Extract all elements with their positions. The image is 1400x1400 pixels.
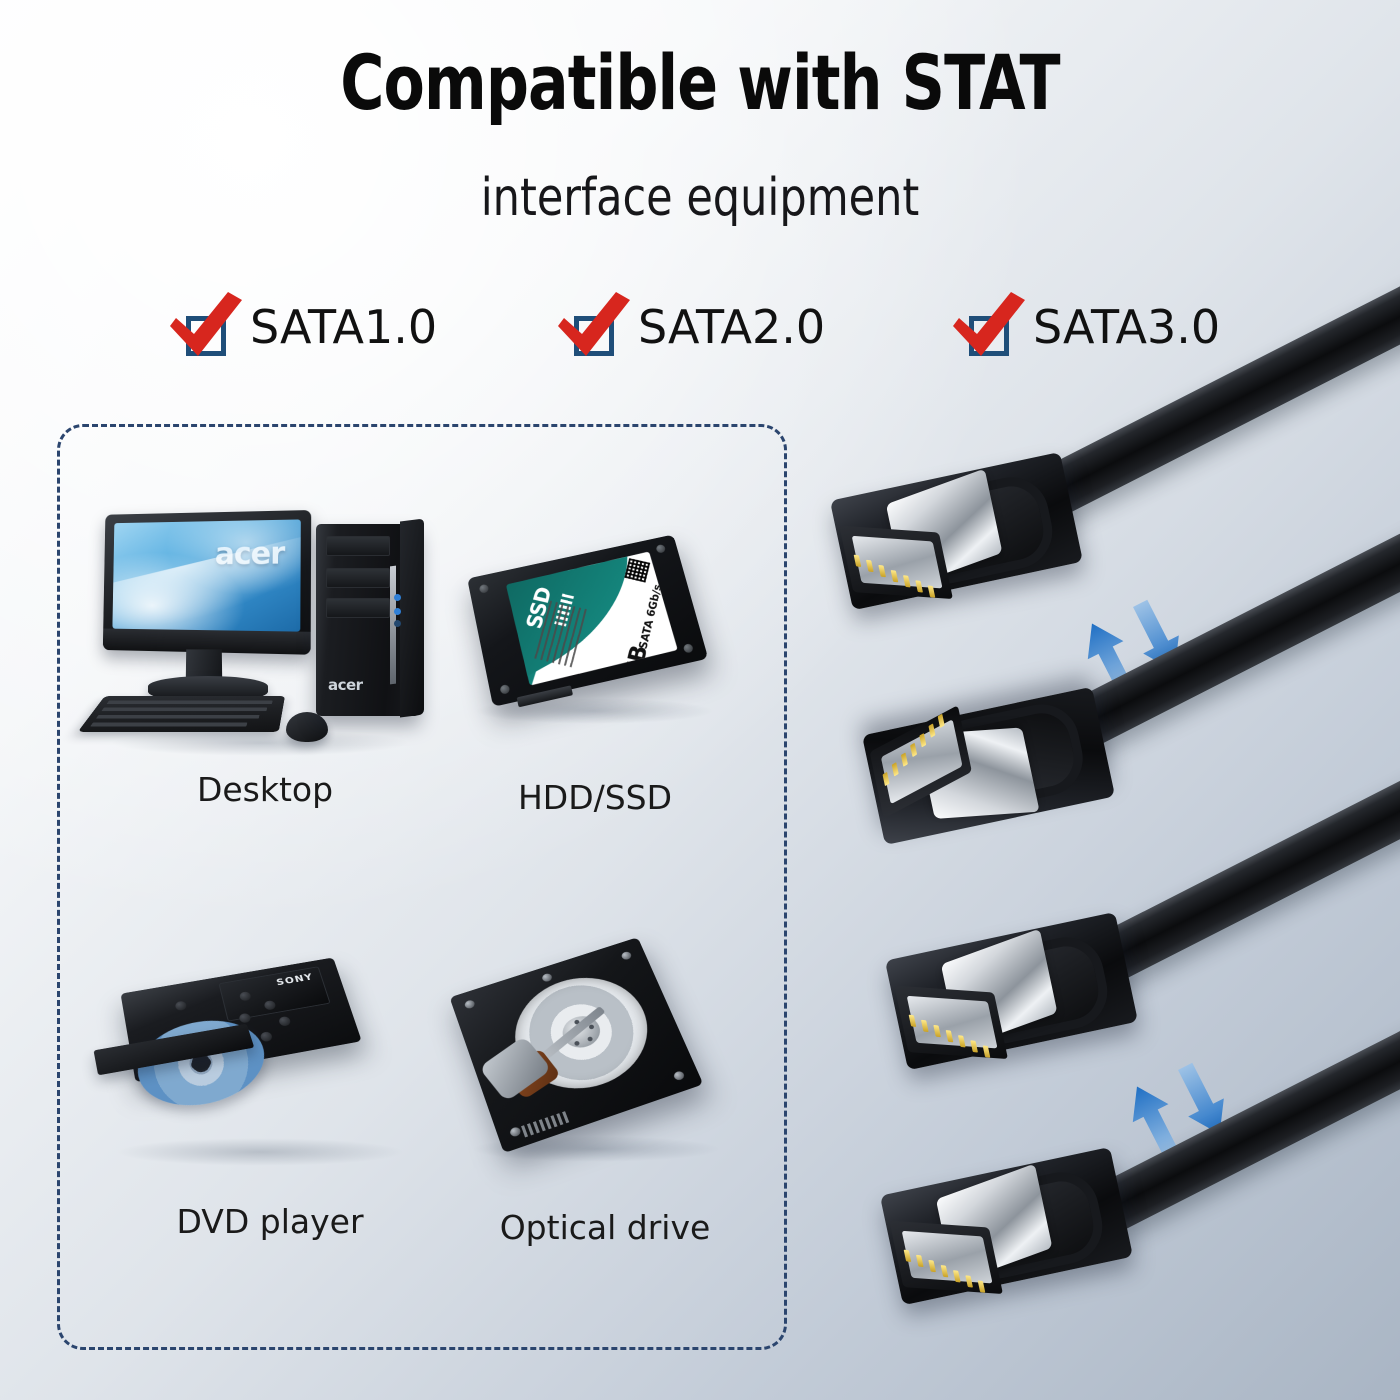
hdd-screw-2 bbox=[620, 951, 632, 961]
solid-state-drive-icon: SSD SATA 6Gb/s 256GB bbox=[460, 520, 730, 750]
ssd-label: SSD SATA 6Gb/s 256GB bbox=[506, 551, 678, 685]
infographic-canvas: Compatible with STAT interface equipment… bbox=[0, 0, 1400, 1400]
hdd-screw-4 bbox=[673, 1070, 686, 1081]
ssd-chassis: SSD SATA 6Gb/s 256GB bbox=[467, 534, 708, 706]
cable-strip bbox=[1018, 245, 1400, 527]
sata-cable-group bbox=[780, 230, 1400, 1400]
device-label-dvd-player: DVD player bbox=[95, 1202, 445, 1241]
tower-acer-logo: acer bbox=[328, 676, 363, 694]
hdd-screw-5 bbox=[541, 972, 553, 982]
device-optical-drive: Optical drive bbox=[455, 940, 755, 1180]
check-mark-icon bbox=[166, 290, 246, 364]
acer-logo: acer bbox=[215, 536, 285, 572]
qr-code-icon bbox=[624, 558, 650, 582]
compat-item-sata1[interactable]: SATA1.0 bbox=[180, 292, 437, 362]
monitor-screen: acer bbox=[112, 519, 300, 631]
straight-latching-connector[interactable] bbox=[885, 912, 1140, 1080]
device-label-desktop: Desktop bbox=[90, 770, 440, 809]
hdd-screw-3 bbox=[509, 1126, 522, 1138]
drive-bay-3 bbox=[326, 598, 390, 618]
tower-accent-strip bbox=[390, 566, 396, 685]
checked-checkbox-icon[interactable] bbox=[180, 304, 232, 356]
hdd-screw-1 bbox=[464, 999, 476, 1010]
desktop-shadow bbox=[110, 730, 410, 756]
tower-side-panel bbox=[400, 519, 424, 718]
straight-latching-connector[interactable] bbox=[830, 452, 1085, 620]
straight-latching-connector[interactable] bbox=[880, 1147, 1135, 1315]
mouse-icon bbox=[286, 712, 328, 742]
ssd-screw-3 bbox=[499, 684, 510, 695]
page-title: Compatible with STAT bbox=[84, 38, 1316, 127]
device-label-hdd-ssd: HDD/SSD bbox=[460, 778, 730, 817]
check-mark-icon bbox=[554, 290, 634, 364]
tower-led-indicators bbox=[394, 594, 401, 601]
dvd-display-panel: SONY bbox=[218, 966, 330, 1021]
tower-case: acer bbox=[316, 524, 420, 716]
hard-disk-drive-icon bbox=[455, 940, 755, 1180]
ssd-screw-2 bbox=[655, 544, 666, 554]
device-desktop: acer acer Desktop bbox=[90, 498, 440, 748]
cable-strip bbox=[1078, 731, 1400, 991]
ssd-screw-4 bbox=[683, 643, 694, 653]
control-button-6[interactable] bbox=[260, 1031, 273, 1042]
device-hdd-ssd: SSD SATA 6Gb/s 256GB HDD/SSD bbox=[460, 520, 730, 750]
ssd-capacity-text: 256GB bbox=[608, 644, 652, 686]
checked-checkbox-icon[interactable] bbox=[568, 304, 620, 356]
ssd-screw-1 bbox=[479, 584, 489, 594]
optical-bay-1 bbox=[326, 536, 390, 556]
compat-label: SATA1.0 bbox=[250, 300, 437, 354]
hdd-chassis bbox=[450, 937, 704, 1153]
device-label-optical-drive: Optical drive bbox=[455, 1208, 755, 1247]
device-dvd-player: SONY DVD player bbox=[95, 930, 445, 1180]
desktop-computer-icon: acer acer bbox=[90, 498, 440, 748]
control-button-1[interactable] bbox=[175, 1001, 188, 1012]
control-button-5[interactable] bbox=[278, 1016, 291, 1027]
page-subtitle: interface equipment bbox=[56, 168, 1344, 228]
monitor-body: acer bbox=[103, 510, 311, 655]
dvd-player-icon: SONY bbox=[95, 930, 445, 1180]
dvd-shadow bbox=[115, 1138, 405, 1166]
hdd-label-text bbox=[521, 1111, 570, 1138]
optical-bay-2 bbox=[326, 568, 390, 588]
ssd-interface-text: SATA 6Gb/s bbox=[637, 583, 665, 650]
sony-logo: SONY bbox=[275, 972, 314, 988]
straight-latching-connector[interactable] bbox=[860, 677, 1115, 845]
keyboard-icon bbox=[78, 696, 285, 732]
